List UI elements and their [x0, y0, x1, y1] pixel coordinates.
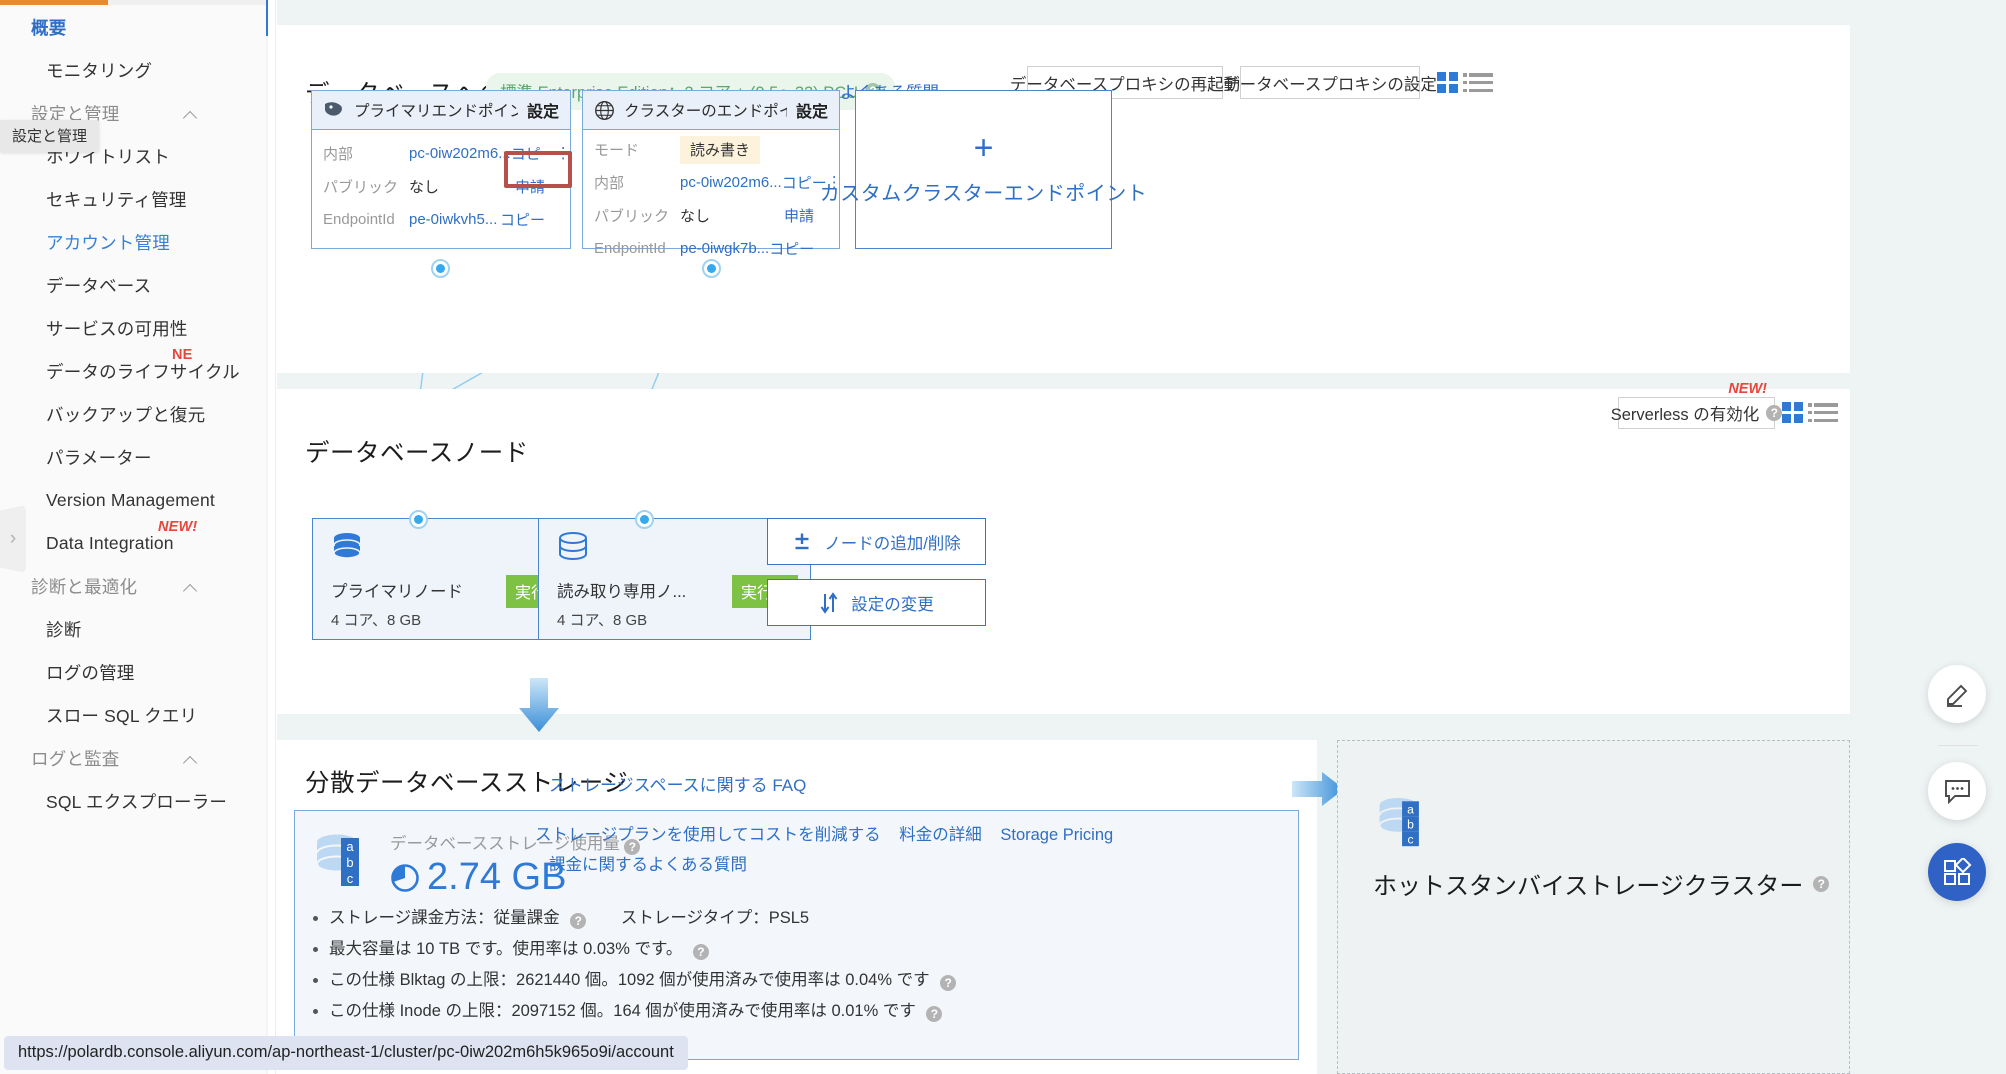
plus-minus-icon [792, 532, 812, 552]
max-capacity-text: 最大容量は 10 TB です。使用率は 0.03% です。 [329, 940, 682, 958]
sidebar-item-label: 診断と最適化 [31, 574, 137, 599]
list-item: 最大容量は 10 TB です。使用率は 0.03% です。 ? [309, 934, 956, 965]
sidebar-item-label: サービスの可用性 [46, 316, 188, 341]
serverless-new-badge: NEW! [1728, 381, 1767, 397]
help-icon[interactable]: ? [1813, 876, 1829, 892]
row-key: パブリック [323, 176, 409, 197]
cluster-endpoint-header: クラスターのエンドポイント 設定 [583, 91, 839, 130]
accent-bar [0, 0, 108, 5]
inode-limit-text: この仕様 Inode の上限：2097152 個。164 個が使用済みで使用率は… [329, 1002, 916, 1020]
storage-panel: 分散データベースストレージ ストレージスペースに関する FAQ a b c [277, 740, 1317, 1074]
sidebar-item-label: SQL エクスプローラー [46, 789, 227, 814]
apps-launcher-button[interactable] [1928, 843, 1986, 901]
sidebar-item-label: モニタリング [46, 58, 152, 83]
sidebar-item-1[interactable]: モニタリング [0, 49, 268, 92]
add-remove-node-button[interactable]: ノードの追加/削除 [767, 518, 986, 565]
svg-text:b: b [346, 855, 353, 870]
chat-support-button[interactable] [1928, 762, 1986, 820]
list-view-icon[interactable] [1814, 403, 1838, 422]
sidebar-item-13[interactable]: 診断と最適化 [0, 565, 268, 608]
sidebar-item-16[interactable]: スロー SQL クエリ [0, 694, 268, 737]
database-icon [556, 532, 590, 570]
sidebar-item-18[interactable]: SQL エクスプローラー [0, 780, 268, 823]
storage-type-text: ストレージタイプ：PSL5 [621, 909, 809, 927]
row-value: なし [409, 176, 515, 197]
dolphin-icon [323, 100, 345, 120]
row-key: パブリック [594, 205, 680, 226]
configure-proxy-button[interactable]: データベースプロキシの設定 [1240, 66, 1420, 99]
storage-pricing-link[interactable]: Storage Pricing [1000, 826, 1113, 844]
sidebar-item-label: ログの管理 [46, 660, 135, 685]
row-key: 内部 [594, 172, 680, 193]
billing-faq-link[interactable]: 課金に関するよくある質問 [549, 856, 747, 874]
new-badge: NEW! [158, 519, 197, 535]
row-value[interactable]: pe-0iwgk7b... [680, 240, 769, 257]
help-icon[interactable]: ? [940, 975, 956, 991]
apply-button[interactable]: 申請 [784, 205, 814, 226]
cluster-endpoint-row-mode: モード 読み書き [583, 133, 839, 166]
cluster-endpoint-row-internal: 内部 pc-0iw202m6... コピー ⋮ [583, 166, 839, 199]
node-connector-dot-readonly [635, 510, 654, 529]
chevron-right-icon: › [10, 528, 16, 550]
row-value[interactable]: pc-0iw202m6... [409, 145, 511, 162]
row-value[interactable]: pc-0iw202m6... [680, 174, 782, 191]
chevron-up-icon[interactable] [184, 108, 196, 120]
cluster-endpoint-row-public: パブリック なし 申請 [583, 199, 839, 232]
sidebar-item-6[interactable]: データベース [0, 264, 268, 307]
list-item: ストレージ課金方法：従量課金 ? ストレージタイプ：PSL5 [309, 903, 956, 934]
chevron-up-icon[interactable] [184, 581, 196, 593]
sidebar-item-4[interactable]: セキュリティ管理 [0, 178, 268, 221]
view-toggle-nodes[interactable] [1782, 402, 1838, 423]
help-icon[interactable]: ? [570, 913, 586, 929]
plus-icon: + [974, 133, 994, 163]
cluster-endpoint-connector-dot [702, 259, 721, 278]
enable-serverless-label: Serverless の有効化 [1611, 401, 1760, 425]
apps-icon [1943, 858, 1972, 887]
enable-serverless-button[interactable]: Serverless の有効化 ? [1618, 397, 1775, 429]
view-toggle-connection[interactable] [1437, 72, 1493, 93]
help-icon[interactable]: ? [693, 944, 709, 960]
sidebar-item-label: Data Integration [46, 533, 174, 554]
status-bar-url: https://polardb.console.aliyun.com/ap-no… [4, 1036, 688, 1070]
primary-endpoint-header: プライマリエンドポイント 設定 [312, 91, 570, 130]
floating-action-rail [1910, 665, 2006, 915]
sidebar-item-17[interactable]: ログと監査 [0, 737, 268, 780]
sidebar: 概要モニタリング設定と管理ホワイトリストセキュリティ管理アカウント管理データベー… [0, 0, 268, 1074]
svg-text:a: a [1407, 802, 1414, 816]
list-view-icon[interactable] [1469, 73, 1493, 92]
grid-view-icon[interactable] [1437, 72, 1458, 93]
sidebar-item-label: スロー SQL クエリ [46, 703, 197, 728]
sidebar-item-11[interactable]: Version Management [0, 479, 268, 522]
sidebar-item-8[interactable]: データのライフサイクルNE [0, 350, 268, 393]
sidebar-item-label: Version Management [46, 490, 215, 511]
pricing-detail-link[interactable]: 料金の詳細 [899, 826, 982, 844]
sidebar-tooltip: 設定と管理 [0, 120, 99, 152]
grid-view-icon[interactable] [1782, 402, 1803, 423]
row-value[interactable]: pe-0iwkvh5... [409, 211, 500, 228]
storage-faq-link[interactable]: ストレージスペースに関する FAQ [549, 771, 806, 796]
sidebar-top-accent [0, 0, 268, 5]
sidebar-item-5[interactable]: アカウント管理 [0, 221, 268, 264]
storage-amount: 2.74 GB [390, 856, 566, 899]
svg-text:c: c [1407, 832, 1413, 846]
sidebar-item-14[interactable]: 診断 [0, 608, 268, 651]
add-custom-cluster-endpoint-card[interactable]: + カスタムクラスターエンドポイント [855, 90, 1112, 249]
feedback-edit-button[interactable] [1928, 665, 1986, 723]
billing-method-text: ストレージ課金方法：従量課金 [329, 909, 560, 927]
copy-button[interactable]: コピー [500, 209, 545, 230]
svg-text:c: c [347, 871, 354, 886]
storage-detail-list: ストレージ課金方法：従量課金 ? ストレージタイプ：PSL5 最大容量は 10 … [309, 903, 956, 1027]
node-spec: 4 コア、8 GB [557, 609, 647, 630]
storage-links-row: ストレージプランを使用してコストを削減する 料金の詳細 Storage Pric… [535, 820, 1265, 880]
rail-divider [1938, 745, 1978, 746]
cluster-endpoint-settings-link[interactable]: 設定 [796, 98, 828, 122]
new-badge: NE [172, 347, 193, 363]
help-icon[interactable]: ? [1766, 405, 1782, 421]
hot-standby-title-text: ホットスタンバイストレージクラスター [1373, 866, 1803, 901]
node-spec: 4 コア、8 GB [331, 609, 421, 630]
node-name: 読み取り専用ノ... [557, 578, 686, 602]
app-root: 概要モニタリング設定と管理ホワイトリストセキュリティ管理アカウント管理データベー… [0, 0, 2006, 1074]
sidebar-item-label: ログと監査 [31, 746, 120, 771]
sidebar-item-7[interactable]: サービスの可用性 [0, 307, 268, 350]
change-configuration-label: 設定の変更 [851, 591, 934, 615]
help-icon[interactable]: ? [926, 1006, 942, 1022]
nodes-section-title: データベースノード [305, 434, 529, 469]
flow-arrow-down-icon [517, 678, 561, 734]
primary-endpoint-card: プライマリエンドポイント 設定 内部 pc-0iw202m6... コピー ⋮ … [311, 90, 571, 249]
sidebar-item-15[interactable]: ログの管理 [0, 651, 268, 694]
pie-chart-icon [390, 863, 420, 893]
hot-standby-storage-icon: a b c [1374, 789, 1432, 856]
storage-amount-value: 2.74 GB [427, 856, 566, 899]
row-key: EndpointId [323, 211, 409, 228]
content-scroll-gutter [268, 0, 276, 1074]
sidebar-item-9[interactable]: バックアップと復元 [0, 393, 268, 436]
nodes-panel: データベースノード NEW! Serverless の有効化 ? [277, 389, 1850, 714]
add-remove-node-label: ノードの追加/削除 [824, 530, 961, 554]
sidebar-item-label: パラメーター [46, 445, 152, 470]
more-options-icon[interactable]: ⋮ [556, 151, 570, 157]
chat-icon [1944, 779, 1971, 804]
updown-arrows-icon [819, 592, 839, 614]
hot-standby-title: ホットスタンバイストレージクラスター ? [1373, 866, 1829, 901]
list-item: この仕様 Blktag の上限：2621440 個。1092 個が使用済みで使用… [309, 965, 956, 996]
list-item: この仕様 Inode の上限：2097152 個。164 個が使用済みで使用率は… [309, 996, 956, 1027]
globe-icon [594, 100, 615, 121]
cluster-endpoint-title: クラスターのエンドポイント [624, 99, 787, 121]
sidebar-item-label: アカウント管理 [46, 230, 170, 255]
svg-text:b: b [1407, 817, 1414, 831]
sidebar-item-label: 概要 [31, 15, 66, 40]
storage-plan-link[interactable]: ストレージプランを使用してコストを削減する [535, 826, 881, 844]
connection-panel: データベースへの接続 標準 Enterprise Edition：2 コア + … [277, 25, 1850, 373]
row-value: なし [680, 205, 784, 226]
primary-endpoint-row-public: パブリック なし 申請 [312, 170, 570, 203]
database-icon [330, 532, 364, 570]
chevron-up-icon[interactable] [184, 753, 196, 765]
row-key: 内部 [323, 143, 409, 164]
main-content: データベースへの接続 標準 Enterprise Edition：2 コア + … [277, 0, 2006, 1074]
primary-endpoint-settings-link[interactable]: 設定 [527, 98, 559, 122]
primary-endpoint-connector-dot [431, 259, 450, 278]
storage-cluster-icon: a b c [311, 827, 373, 894]
sidebar-item-label: データベース [46, 273, 151, 298]
primary-endpoint-title: プライマリエンドポイント [354, 99, 518, 121]
sidebar-collapse-handle[interactable]: › [0, 505, 26, 573]
row-key: モード [594, 139, 680, 160]
storage-usage-box: a b c データベースストレージ使用量 ? ストレージプランを使用してコストを… [294, 810, 1299, 1060]
blktag-limit-text: この仕様 Blktag の上限：2621440 個。1092 個が使用済みで使用… [329, 971, 930, 989]
row-key: EndpointId [594, 240, 680, 257]
primary-endpoint-row-endpointid: EndpointId pe-0iwkvh5... コピー [312, 203, 570, 236]
primary-endpoint-row-internal: 内部 pc-0iw202m6... コピー ⋮ [312, 137, 570, 170]
sidebar-item-0[interactable]: 概要 [0, 6, 268, 49]
sidebar-item-label: 診断 [46, 617, 81, 642]
change-configuration-button[interactable]: 設定の変更 [767, 579, 986, 626]
add-custom-endpoint-label: カスタムクラスターエンドポイント [820, 177, 1148, 206]
sidebar-item-label: バックアップと復元 [46, 402, 205, 427]
node-connector-dot-primary [409, 510, 428, 529]
sidebar-item-label: セキュリティ管理 [46, 187, 187, 212]
sidebar-item-label: データのライフサイクル [46, 359, 240, 384]
mode-badge: 読み書き [680, 136, 760, 164]
copy-button[interactable]: コピー [511, 143, 556, 164]
sidebar-item-12[interactable]: Data IntegrationNEW! [0, 522, 268, 565]
sidebar-item-10[interactable]: パラメーター [0, 436, 268, 479]
pencil-icon [1944, 681, 1971, 708]
copy-button[interactable]: コピー [769, 238, 814, 259]
apply-button[interactable]: 申請 [515, 176, 545, 197]
svg-text:a: a [346, 839, 354, 854]
cluster-endpoint-card: クラスターのエンドポイント 設定 モード 読み書き 内部 pc-0iw202m6… [582, 90, 840, 249]
hot-standby-panel: a b c ホットスタンバイストレージクラスター ? [1337, 740, 1850, 1074]
node-name: プライマリノード [331, 578, 463, 602]
